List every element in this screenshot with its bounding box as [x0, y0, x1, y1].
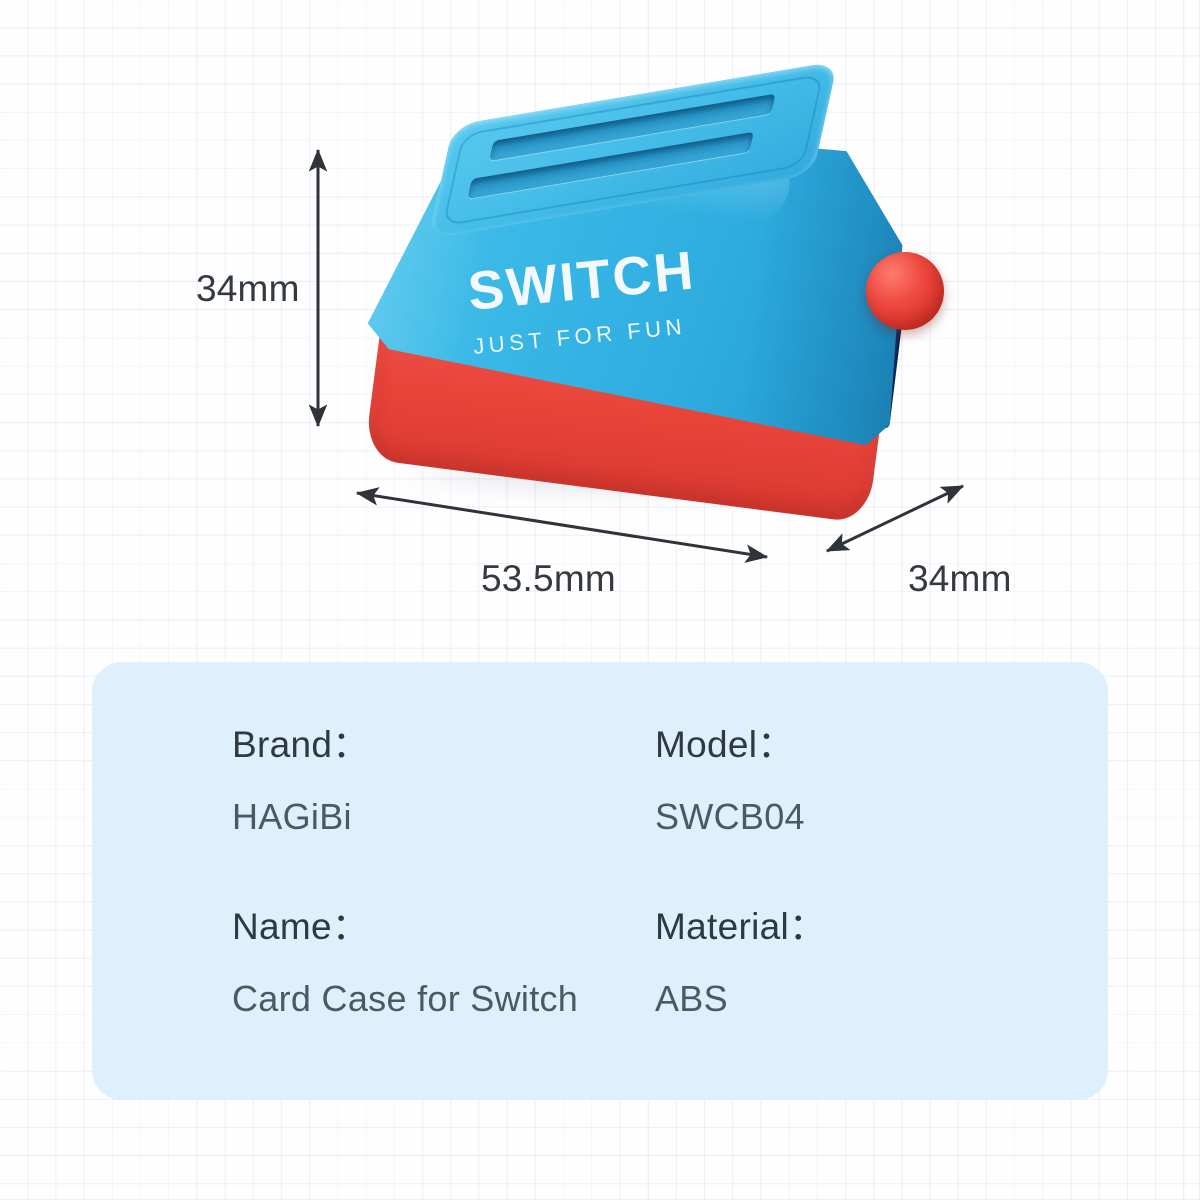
spec-cell-model: Model： SWCB04: [655, 714, 1048, 878]
spec-cell-material: Material： ABS: [655, 896, 1048, 1060]
spec-cell-brand: Brand： HAGiBi: [232, 714, 625, 878]
spec-cell-name: Name： Card Case for Switch: [232, 896, 625, 1060]
spec-value-brand: HAGiBi: [232, 796, 625, 838]
product-spec-page: SWITCH JUST FOR FUN 34mm 53.5mm: [0, 0, 1200, 1200]
width-dimension-label: 53.5mm: [481, 558, 616, 600]
spec-value-material: ABS: [655, 978, 1048, 1020]
depth-dimension-label: 34mm: [908, 558, 1012, 600]
product-illustration: SWITCH JUST FOR FUN 34mm 53.5mm: [0, 0, 1200, 640]
toaster-red-knob: [866, 252, 944, 330]
spec-label-model: Model：: [655, 714, 1048, 768]
specification-panel: Brand： HAGiBi Model： SWCB04 Name： Card C…: [92, 662, 1108, 1100]
spec-label-name: Name：: [232, 896, 625, 950]
specification-grid: Brand： HAGiBi Model： SWCB04 Name： Card C…: [232, 714, 1048, 1060]
spec-label-material: Material：: [655, 896, 1048, 950]
spec-value-model: SWCB04: [655, 796, 1048, 838]
height-dimension-label: 34mm: [196, 268, 300, 310]
spec-value-name: Card Case for Switch: [232, 978, 625, 1020]
spec-label-brand: Brand：: [232, 714, 625, 768]
